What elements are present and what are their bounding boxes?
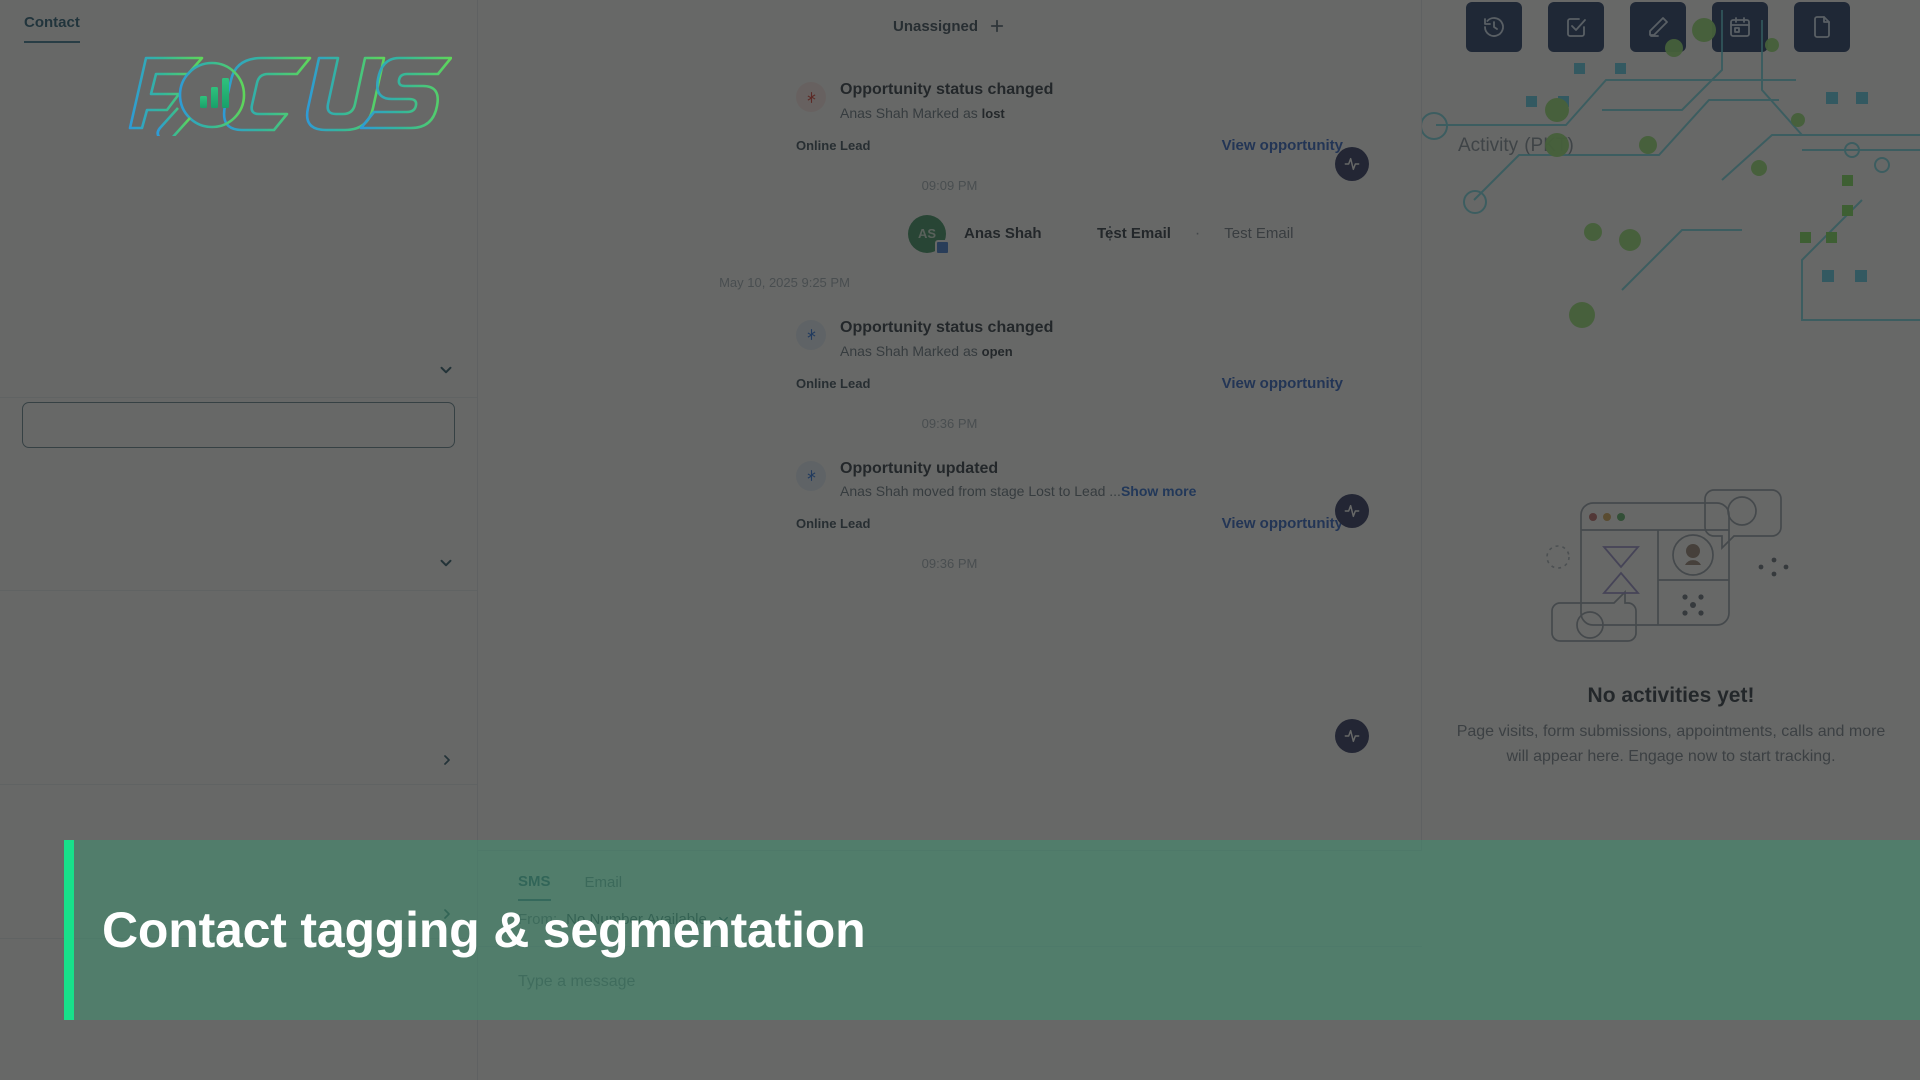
sidebar-search-input[interactable] [22, 402, 455, 448]
activity-subject: Anas Shah Marked as [840, 105, 982, 121]
sidebar-tab-contact[interactable]: Contact [24, 14, 80, 43]
view-opportunity-link[interactable]: View opportunity [1222, 137, 1343, 154]
asterisk-icon [796, 461, 826, 491]
empty-state: No activities yet! Page visits, form sub… [1422, 485, 1920, 770]
chevron-down-icon[interactable] [437, 554, 455, 572]
activity-subject: Anas Shah moved from stage Lost to Lead … [840, 483, 1121, 499]
activity-card-text: Opportunity status changed Anas Shah Mar… [840, 80, 1053, 121]
sidebar-row-1[interactable] [0, 736, 477, 785]
sidebar-input-wrap [0, 398, 477, 466]
empty-state-illustration [1546, 485, 1796, 660]
email-sender-name: Anas Shah [964, 225, 1079, 242]
activity-title: Opportunity status changed [840, 318, 1053, 339]
activity-title: Opportunity status changed [840, 80, 1053, 101]
lower-third-banner: Contact tagging & segmentation [64, 840, 1920, 1020]
asterisk-icon [796, 320, 826, 350]
kebab-menu-icon[interactable]: ⋮ [1101, 223, 1121, 244]
pulse-icon [1335, 147, 1369, 181]
activity-card-text: Opportunity status changed Anas Shah Mar… [840, 318, 1053, 359]
email-channel-icon [935, 240, 950, 255]
banner-title: Contact tagging & segmentation [64, 901, 865, 959]
activity-tag: Online Lead [796, 138, 870, 153]
activity-status-value: lost [982, 106, 1005, 121]
email-datetime: May 10, 2025 9:25 PM [478, 275, 1421, 290]
activity-card-footer: Online Lead View opportunity [796, 375, 1343, 392]
show-more-link[interactable]: Show more [1121, 483, 1196, 499]
view-opportunity-link[interactable]: View opportunity [1222, 375, 1343, 392]
activity-card[interactable]: Opportunity updated Anas Shah moved from… [778, 445, 1361, 545]
pulse-icon [1335, 719, 1369, 753]
activity-subtitle: Anas Shah Marked as lost [840, 105, 1053, 121]
activity-card[interactable]: Opportunity status changed Anas Shah Mar… [778, 304, 1361, 404]
activity-status-value: open [982, 344, 1013, 359]
empty-state-description: Page visits, form submissions, appointme… [1422, 720, 1920, 770]
view-opportunity-link[interactable]: View opportunity [1222, 515, 1343, 532]
avatar: AS [908, 215, 946, 253]
activity-tag: Online Lead [796, 376, 870, 391]
chevron-down-icon[interactable] [437, 361, 455, 379]
activity-subject: Anas Shah Marked as [840, 343, 982, 359]
activity-card-top: Opportunity status changed Anas Shah Mar… [796, 80, 1343, 121]
sidebar-section-2[interactable] [0, 536, 477, 591]
activity-timestamp: 09:36 PM [478, 556, 1421, 571]
avatar-initials: AS [918, 226, 936, 241]
empty-state-title: No activities yet! [1422, 684, 1920, 708]
activity-subtitle: Anas Shah Marked as open [840, 343, 1053, 359]
activity-card[interactable]: Opportunity status changed Anas Shah Mar… [778, 66, 1361, 166]
activity-timestamp: 09:36 PM [478, 416, 1421, 431]
activity-card-footer: Online Lead View opportunity [796, 515, 1343, 532]
sidebar-section-1[interactable] [0, 343, 477, 398]
email-preview: Test Email [1224, 225, 1293, 242]
sidebar-tabs: Contact [0, 0, 477, 43]
focus-logo [72, 50, 452, 136]
circuit-decoration [1422, 0, 1920, 520]
center-header: Unassigned [478, 0, 1421, 52]
activity-card-footer: Online Lead View opportunity [796, 137, 1343, 154]
banner-accent-bar [64, 840, 74, 1020]
plus-icon[interactable] [988, 17, 1006, 35]
pulse-icon [1335, 494, 1369, 528]
activity-card-top: Opportunity status changed Anas Shah Mar… [796, 318, 1343, 359]
activity-timestamp: 09:09 PM [478, 178, 1421, 193]
activity-tag: Online Lead [796, 516, 870, 531]
chevron-right-icon[interactable] [439, 752, 455, 768]
assignee-label[interactable]: Unassigned [893, 18, 978, 35]
email-list-item[interactable]: AS Anas Shah Test Email · Test Email ⋮ [478, 205, 1421, 263]
activity-title: Opportunity updated [840, 459, 1196, 480]
activity-card-top: Opportunity updated Anas Shah moved from… [796, 459, 1343, 500]
activity-subtitle: Anas Shah moved from stage Lost to Lead … [840, 483, 1196, 499]
activity-card-text: Opportunity updated Anas Shah moved from… [840, 459, 1196, 500]
asterisk-icon [796, 82, 826, 112]
separator-dot: · [1195, 225, 1200, 243]
